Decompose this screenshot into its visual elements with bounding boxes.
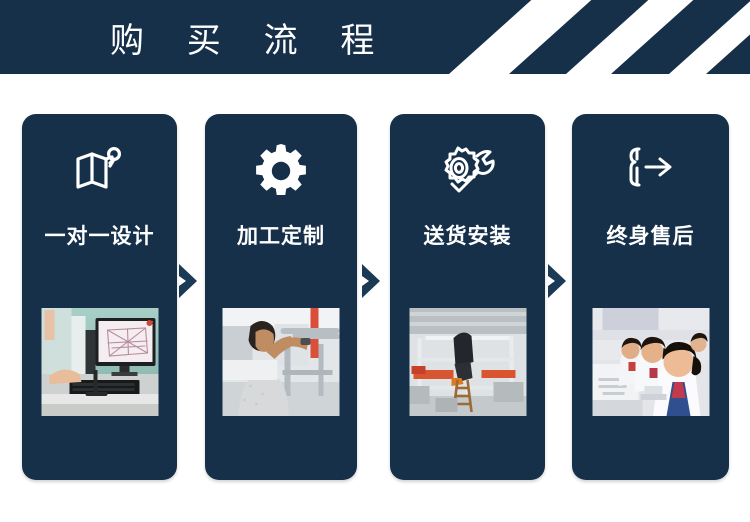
step-connector-arrow-3 [548, 264, 570, 298]
process-step-card-4[interactable]: 终身售后 [572, 114, 729, 480]
process-step-card-3[interactable]: 送货安装 [390, 114, 545, 480]
step-label: 送货安装 [390, 220, 545, 250]
step-connector-arrow-1 [179, 264, 201, 298]
step-label: 加工定制 [205, 220, 357, 250]
chevron-right-icon [179, 264, 201, 298]
step-photo-2 [223, 308, 340, 416]
phone-arrow-icon [572, 132, 729, 210]
step-photo-3 [409, 308, 526, 416]
gear-icon [205, 132, 357, 210]
chevron-right-icon [362, 264, 384, 298]
step-photo-4 [592, 308, 709, 416]
gear-wrench-icon [390, 132, 545, 210]
step-connector-arrow-2 [362, 264, 384, 298]
process-step-card-2[interactable]: 加工定制 [205, 114, 357, 480]
chevron-right-icon [548, 264, 570, 298]
step-photo-1 [41, 308, 158, 416]
process-step-card-1[interactable]: 一对一设计 [22, 114, 177, 480]
step-label: 一对一设计 [22, 220, 177, 250]
step-label: 终身售后 [572, 220, 729, 250]
purchase-process-banner: 购 买 流 程 一对一设计 [0, 0, 750, 522]
banner-header: 购 买 流 程 [0, 0, 750, 74]
map-blueprint-pin-icon [22, 132, 177, 210]
page-title: 购 买 流 程 [108, 0, 390, 74]
